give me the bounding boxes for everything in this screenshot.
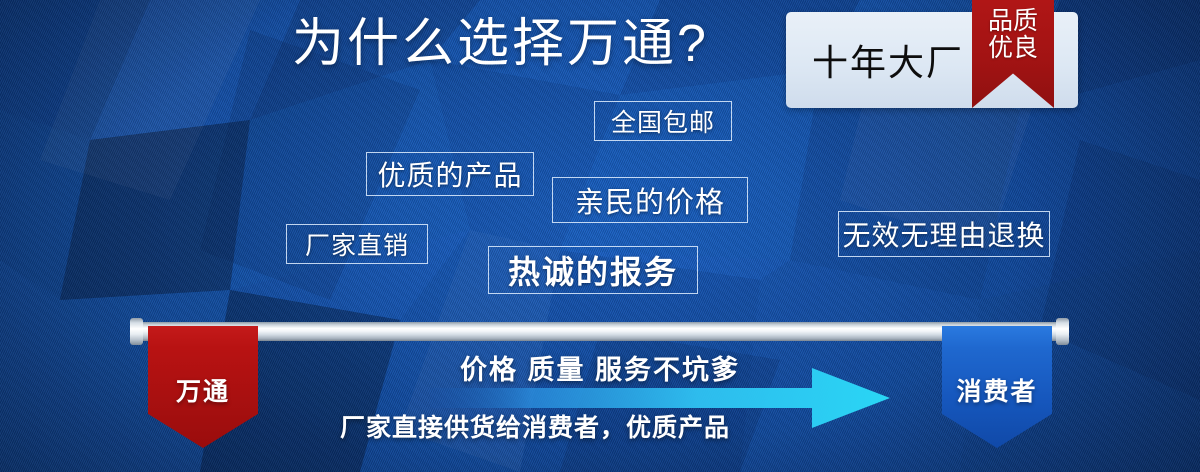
banner-rod-cap-right	[1056, 318, 1069, 345]
claim-headline: 价格 质量 服务不坑爹	[0, 348, 1200, 387]
page-title: 为什么选择万通?	[292, 14, 709, 74]
feature-tag-quality-products: 优质的产品	[366, 152, 534, 196]
quality-ribbon-text: 品质 优良	[972, 8, 1054, 62]
feature-tag-free-shipping: 全国包邮	[594, 101, 732, 141]
promo-banner: 为什么选择万通? 十年大厂 品质 优良 全国包邮 优质的产品 亲民的价格 厂家直…	[0, 0, 1200, 472]
feature-tag-free-returns: 无效无理由退换	[838, 211, 1050, 257]
feature-tag-sincere-service: 热诚的报务	[488, 246, 698, 294]
quality-ribbon-line2: 优良	[972, 35, 1054, 62]
claim-subline: 厂家直接供货给消费者，优质产品	[0, 408, 1070, 444]
factory-badge-label: 十年大厂	[812, 34, 964, 86]
feature-tag-factory-direct: 厂家直销	[286, 224, 428, 264]
feature-tag-affordable-price: 亲民的价格	[552, 177, 748, 223]
banner-rod-cap-left	[130, 318, 143, 345]
quality-ribbon-line1: 品质	[972, 8, 1054, 35]
banner-rod	[133, 322, 1065, 341]
